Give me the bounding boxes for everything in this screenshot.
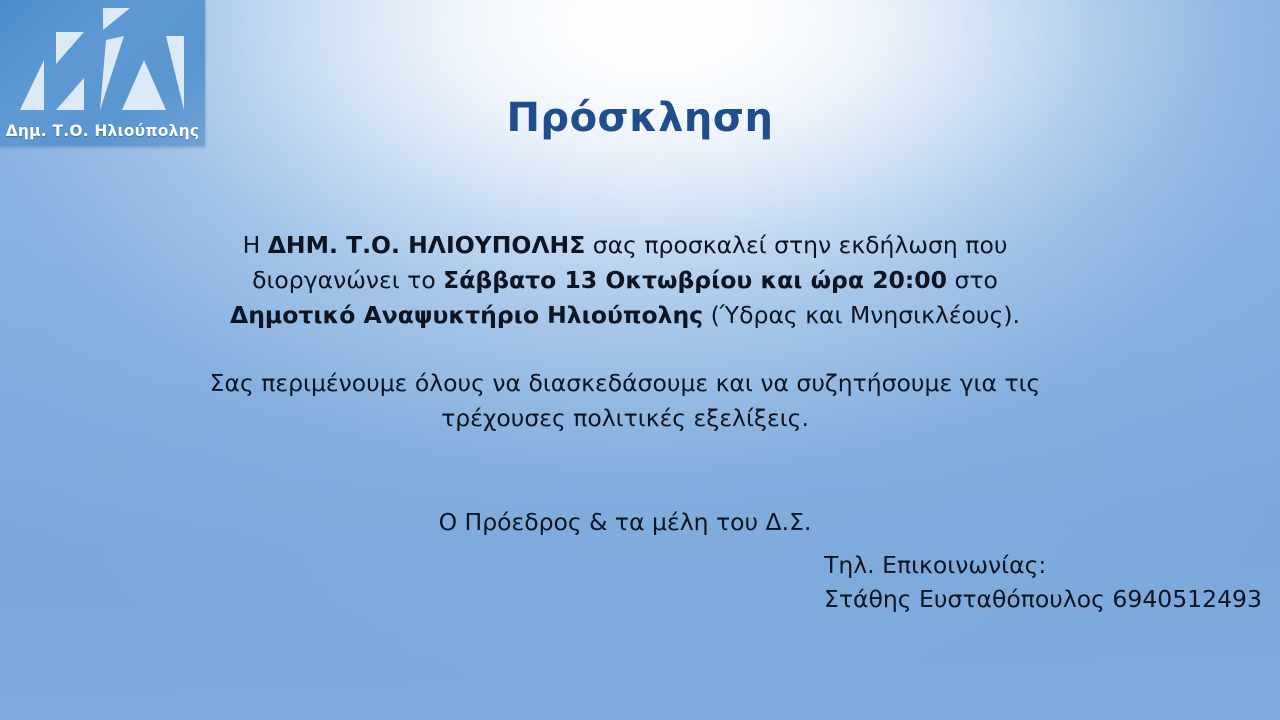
invitation-body: Η ΔΗΜ. Τ.Ο. ΗΛΙΟΥΠΟΛΗΣ σας προσκαλεί στη…: [190, 228, 1060, 436]
paragraph-closing-note: Σας περιμένουμε όλους να διασκεδάσουμε κ…: [190, 366, 1060, 436]
p1-date-time: Σάββατο 13 Οκτωβρίου και ώρα 20:00: [443, 266, 947, 294]
contact-label: Τηλ. Επικοινωνίας:: [824, 548, 1264, 582]
p1-venue: Δημοτικό Αναψυκτήριο Ηλιούπολης: [230, 301, 703, 329]
p1-address: (Ύδρας και Μνησικλέους).: [703, 301, 1020, 329]
paragraph-invitation-details: Η ΔΗΜ. Τ.Ο. ΗΛΙΟΥΠΟΛΗΣ σας προσκαλεί στη…: [190, 228, 1060, 333]
contact-person-phone: Στάθης Ευσταθόπουλος 6940512493: [824, 582, 1264, 616]
signature-line: Ο Πρόεδρος & τα μέλη του Δ.Σ.: [190, 505, 1060, 539]
p1-part-1: Η: [243, 231, 268, 259]
page-title: Πρόσκληση: [0, 95, 1280, 141]
p1-organisation: ΔΗΜ. Τ.Ο. ΗΛΙΟΥΠΟΛΗΣ: [268, 231, 586, 259]
invitation-slide: Δημ. Τ.Ο. Ηλιούπολης Πρόσκληση Η ΔΗΜ. Τ.…: [0, 0, 1280, 720]
contact-block: Τηλ. Επικοινωνίας: Στάθης Ευσταθόπουλος …: [824, 548, 1264, 616]
p1-part-5: στο: [947, 266, 998, 294]
